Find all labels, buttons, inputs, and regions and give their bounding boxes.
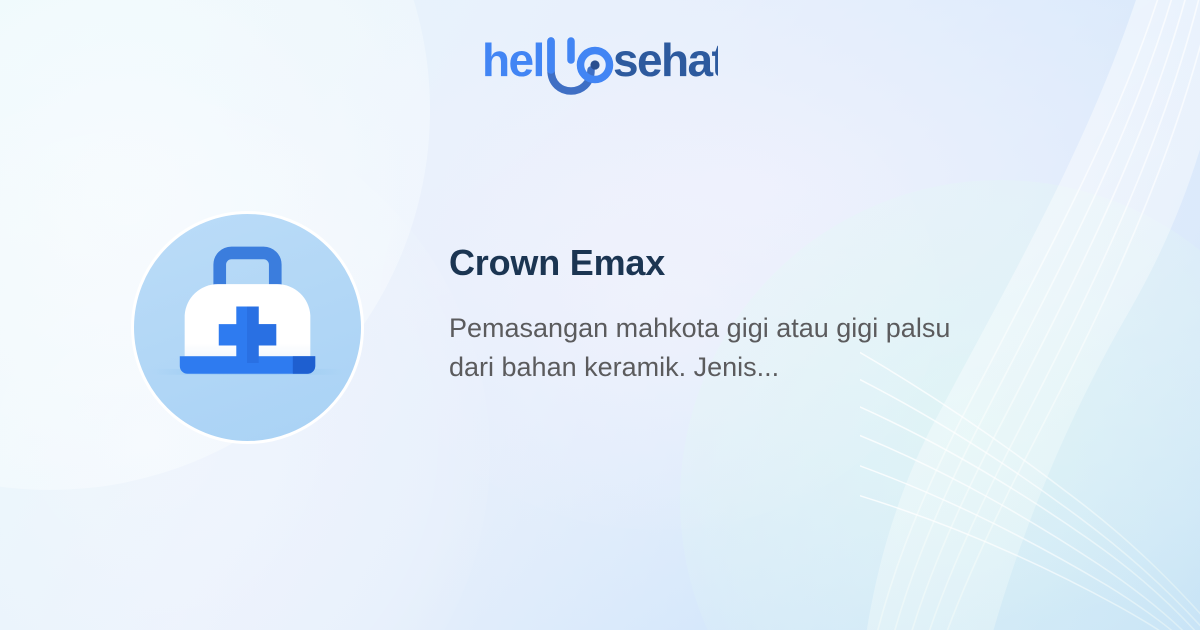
stethoscope-icon [551,41,610,91]
logo-mark: hel sehat [482,34,718,96]
hellosehat-logo[interactable]: hel sehat [0,34,1200,96]
content-block: Crown Emax Pemasangan mahkota gigi atau … [449,243,1009,386]
page-title: Crown Emax [449,243,1009,283]
page-description: Pemasangan mahkota gigi atau gigi palsu … [449,309,989,386]
svg-text:hel: hel [482,34,544,86]
share-card: hel sehat [0,0,1200,630]
svg-text:sehat: sehat [613,34,718,86]
medical-bag-icon [131,211,364,444]
